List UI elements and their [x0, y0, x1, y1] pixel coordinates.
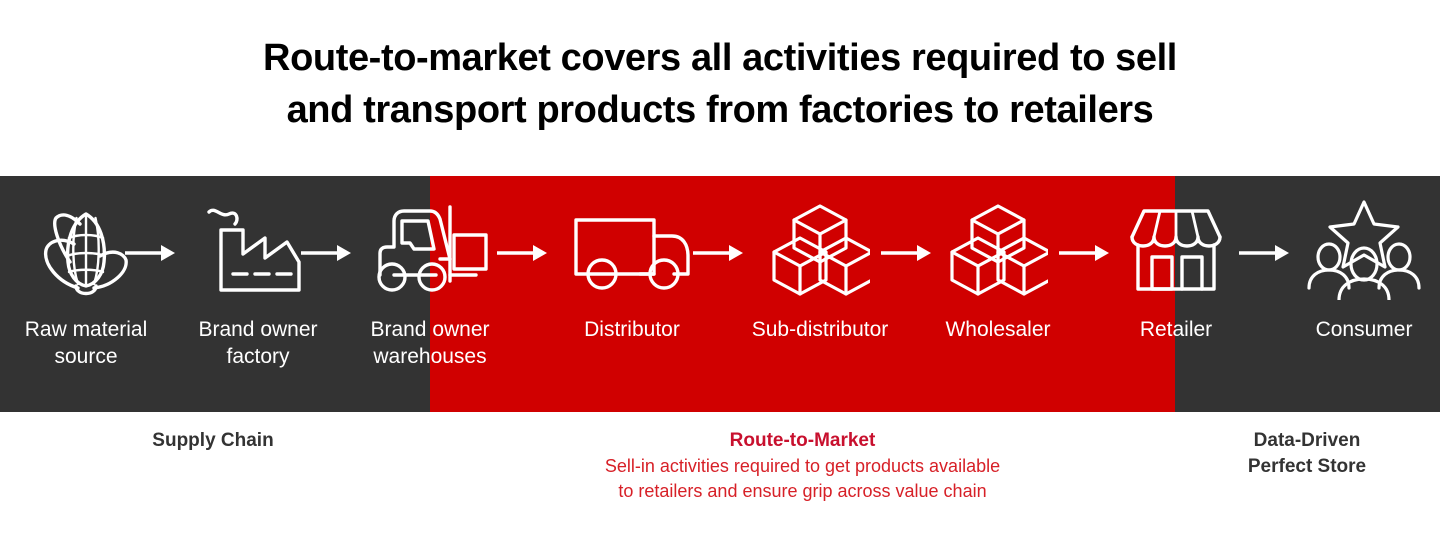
- node-label: Consumer: [1278, 316, 1440, 343]
- node-label: Wholesaler: [912, 316, 1084, 343]
- caption-data-driven-line-1: Data-Driven: [1172, 428, 1440, 454]
- caption-route-to-market-sub-line-1: Sell-in activities required to get produ…: [470, 454, 1135, 479]
- node-label-line-1: Distributor: [546, 316, 718, 343]
- node-sub-distributor[interactable]: Sub-distributor: [734, 176, 906, 412]
- caption-data-driven-line-2: Perfect Store: [1172, 454, 1440, 480]
- node-label-line-1: Sub-distributor: [734, 316, 906, 343]
- node-label: Distributor: [546, 316, 718, 343]
- node-label: Sub-distributor: [734, 316, 906, 343]
- caption-supply-chain-heading: Supply Chain: [78, 428, 348, 454]
- node-label-line-1: Raw material: [0, 316, 172, 343]
- title-line-1: Route-to-market covers all activities re…: [0, 32, 1440, 84]
- node-label-line-1: Consumer: [1278, 316, 1440, 343]
- node-brand-owner-factory[interactable]: Brand owner factory: [172, 176, 344, 412]
- node-retailer[interactable]: Retailer: [1090, 176, 1262, 412]
- node-label-line-1: Brand owner: [172, 316, 344, 343]
- node-label: Retailer: [1090, 316, 1262, 343]
- node-wholesaler[interactable]: Wholesaler: [912, 176, 1084, 412]
- node-distributor[interactable]: Distributor: [546, 176, 718, 412]
- page-title: Route-to-market covers all activities re…: [0, 32, 1440, 136]
- node-label-line-2: warehouses: [344, 343, 516, 370]
- node-raw-material-source[interactable]: Raw material source: [0, 176, 172, 412]
- value-chain-flow: Raw material source: [0, 176, 1440, 412]
- caption-route-to-market-heading: Route-to-Market: [470, 428, 1135, 454]
- caption-supply-chain: Supply Chain: [78, 428, 348, 454]
- node-label: Raw material source: [0, 316, 172, 370]
- caption-data-driven-perfect-store: Data-Driven Perfect Store: [1172, 428, 1440, 480]
- node-brand-owner-warehouses[interactable]: Brand owner warehouses: [344, 176, 516, 412]
- caption-route-to-market: Route-to-Market Sell-in activities requi…: [470, 428, 1135, 504]
- node-label-line-2: factory: [172, 343, 344, 370]
- people-star-icon: [1278, 198, 1440, 302]
- value-chain-band: Raw material source: [0, 176, 1440, 412]
- node-label: Brand owner warehouses: [344, 316, 516, 370]
- title-line-2: and transport products from factories to…: [0, 84, 1440, 136]
- node-label: Brand owner factory: [172, 316, 344, 370]
- node-label-line-1: Wholesaler: [912, 316, 1084, 343]
- node-label-line-2: source: [0, 343, 172, 370]
- node-consumer[interactable]: Consumer: [1278, 176, 1440, 412]
- node-label-line-1: Retailer: [1090, 316, 1262, 343]
- node-label-line-1: Brand owner: [344, 316, 516, 343]
- caption-route-to-market-sub-line-2: to retailers and ensure grip across valu…: [470, 479, 1135, 504]
- diagram-canvas: Route-to-market covers all activities re…: [0, 0, 1440, 542]
